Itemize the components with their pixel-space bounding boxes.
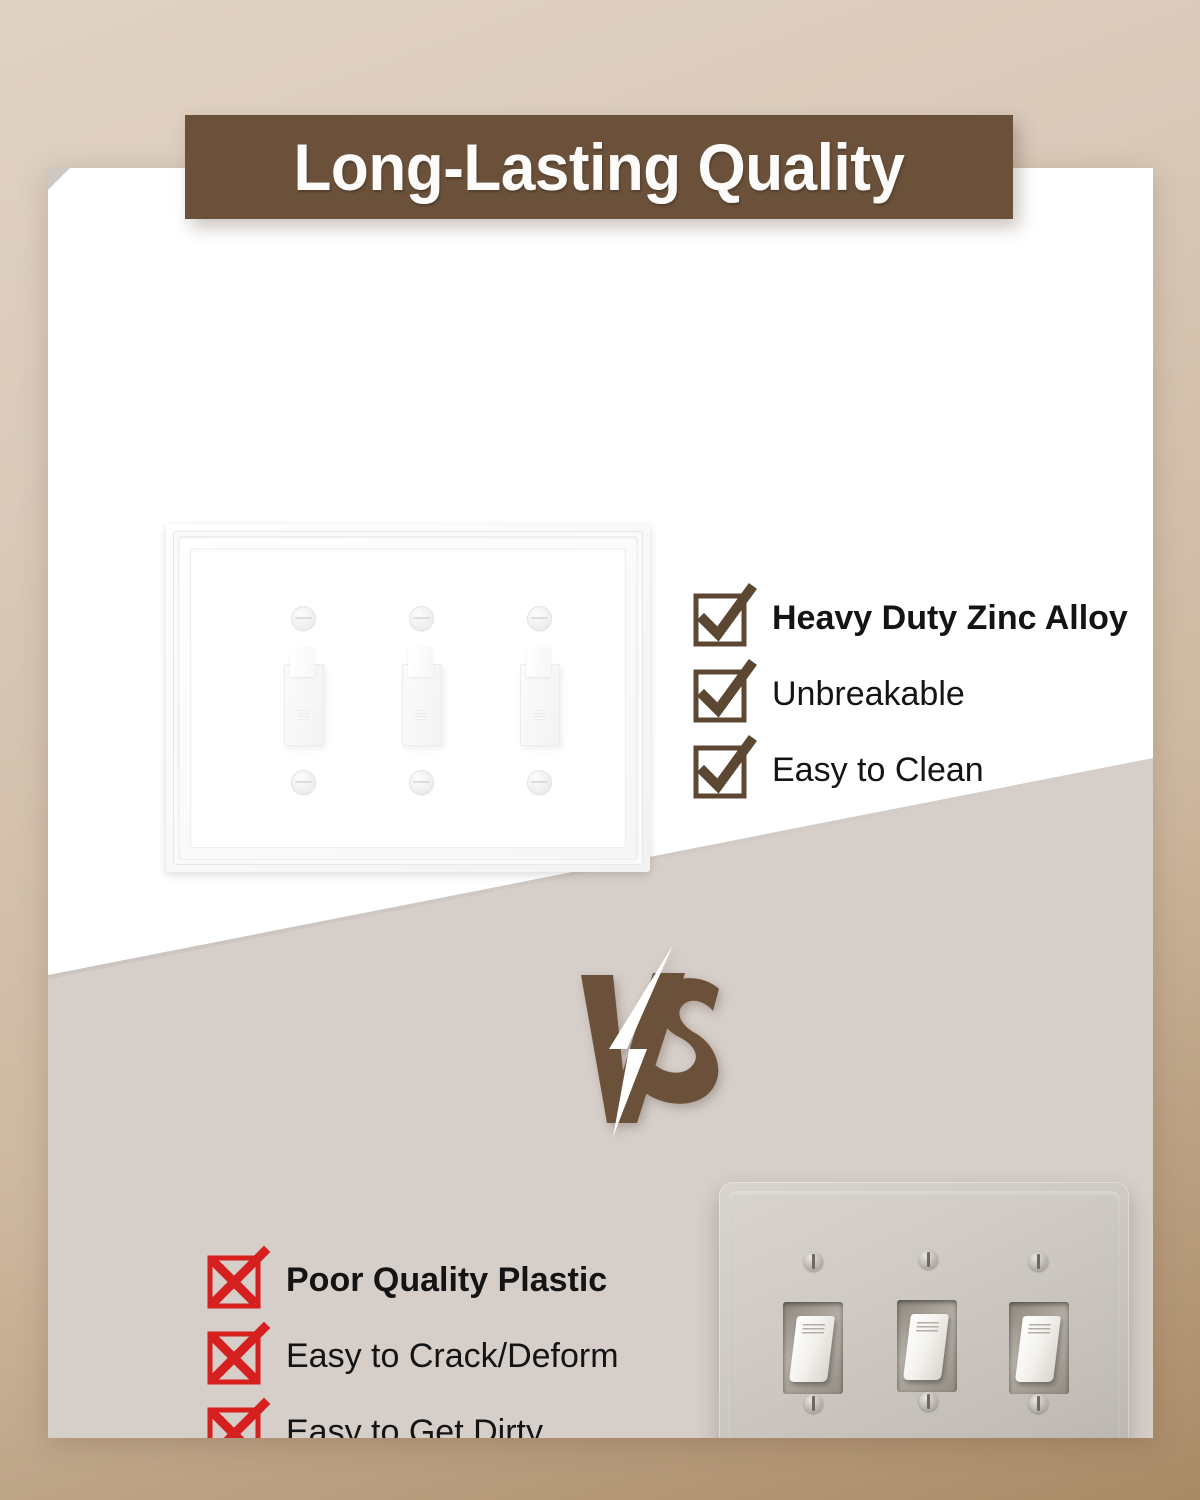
screw-top-left xyxy=(804,1252,823,1271)
screw-bottom-left xyxy=(804,1394,823,1413)
check-icon xyxy=(692,668,744,720)
cross-icon xyxy=(206,1254,258,1306)
list-item-label: Easy to Get Dirty xyxy=(286,1413,543,1439)
white-wall-plate-image xyxy=(166,524,650,872)
check-icon xyxy=(692,744,744,796)
list-item-label: Easy to Clean xyxy=(772,751,984,790)
vs-badge xyxy=(567,953,737,1128)
screw-top-center xyxy=(919,1250,938,1269)
screw-top-center xyxy=(409,606,434,631)
beige-wall-plate-image xyxy=(719,1182,1129,1438)
good-feature-list: Heavy Duty Zinc Alloy Unbreakable Easy t… xyxy=(692,580,1128,808)
list-item: Easy to Crack/Deform xyxy=(206,1318,619,1394)
page-title: Long-Lasting Quality xyxy=(294,129,905,205)
toggle-switch-center[interactable] xyxy=(897,1300,957,1392)
list-item-label: Heavy Duty Zinc Alloy xyxy=(772,599,1128,638)
toggle-switch-center[interactable] xyxy=(402,664,442,746)
cross-icon xyxy=(206,1330,258,1382)
screw-bottom-center xyxy=(409,770,434,795)
header-banner: Long-Lasting Quality xyxy=(185,115,1013,219)
toggle-switch-right[interactable] xyxy=(520,664,560,746)
list-item: Poor Quality Plastic xyxy=(206,1242,619,1318)
screw-bottom-right xyxy=(1029,1394,1048,1413)
bad-feature-list: Poor Quality Plastic Easy to Crack/Defor… xyxy=(206,1242,619,1438)
toggle-switch-right[interactable] xyxy=(1009,1302,1069,1394)
toggle-lever xyxy=(1015,1316,1061,1382)
toggle-lever xyxy=(789,1316,835,1382)
comparison-card: Heavy Duty Zinc Alloy Unbreakable Easy t… xyxy=(48,168,1153,1438)
toggle-switch-left[interactable] xyxy=(284,664,324,746)
list-item-label: Easy to Crack/Deform xyxy=(286,1337,619,1376)
screw-bottom-left xyxy=(291,770,316,795)
list-item: Unbreakable xyxy=(692,656,1128,732)
list-item: Easy to Clean xyxy=(692,732,1128,808)
screw-bottom-right xyxy=(527,770,552,795)
screw-top-left xyxy=(291,606,316,631)
toggle-switch-left[interactable] xyxy=(783,1302,843,1394)
list-item-label: Unbreakable xyxy=(772,675,965,714)
screw-top-right xyxy=(527,606,552,631)
screw-bottom-center xyxy=(919,1392,938,1411)
list-item: Easy to Get Dirty xyxy=(206,1394,619,1438)
list-item: Heavy Duty Zinc Alloy xyxy=(692,580,1128,656)
folded-corner-decoration xyxy=(48,168,70,190)
screw-top-right xyxy=(1029,1252,1048,1271)
plate-face xyxy=(190,548,626,848)
toggle-lever xyxy=(903,1314,949,1380)
cross-icon xyxy=(206,1406,258,1438)
check-icon xyxy=(692,592,744,644)
list-item-label: Poor Quality Plastic xyxy=(286,1261,607,1300)
